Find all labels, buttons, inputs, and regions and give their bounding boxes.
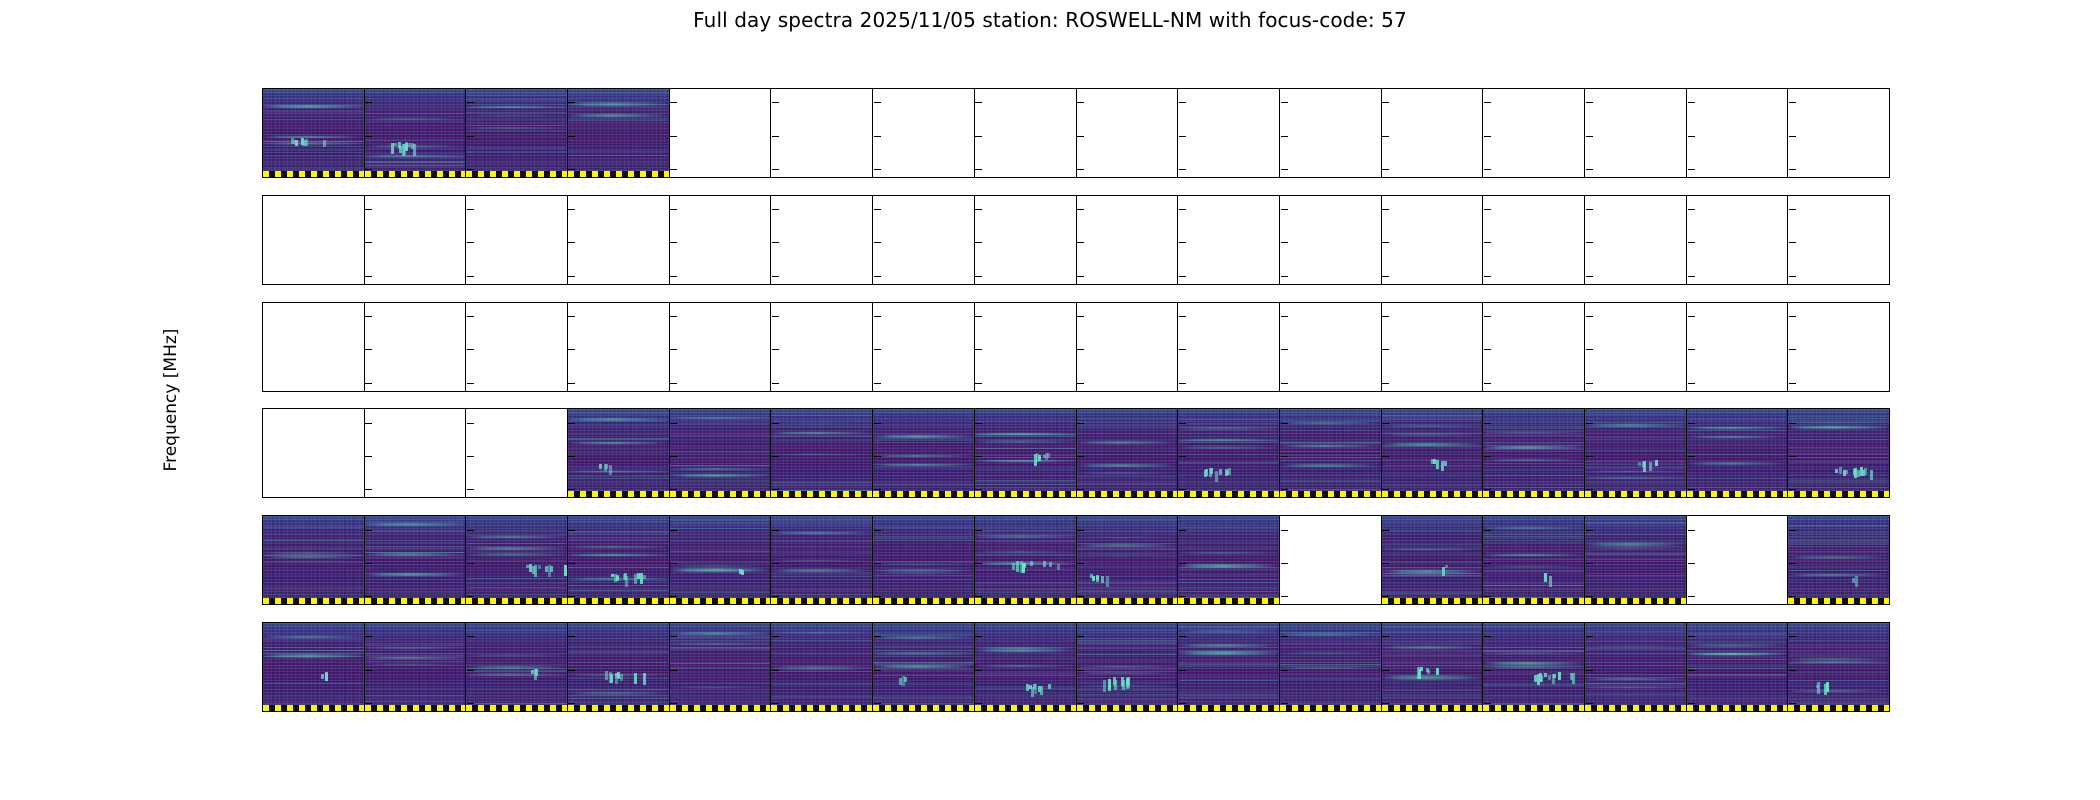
spectral-streak bbox=[1382, 684, 1483, 685]
spectral-streak bbox=[1483, 581, 1584, 582]
spectral-streak bbox=[670, 446, 771, 447]
panel-inner-tick bbox=[1382, 276, 1389, 277]
data-present-marker bbox=[1585, 491, 1686, 497]
spectral-streak bbox=[1280, 634, 1381, 635]
spectral-streak bbox=[365, 162, 466, 163]
spectral-streak bbox=[568, 430, 669, 431]
spectral-streak bbox=[975, 457, 1076, 458]
spectral-streak bbox=[1788, 672, 1889, 673]
panel-inner-tick bbox=[568, 670, 575, 671]
panel-inner-tick bbox=[1281, 670, 1288, 671]
data-present-marker bbox=[873, 598, 974, 604]
spectral-streak bbox=[873, 440, 974, 441]
narrowband-burst bbox=[1835, 469, 1838, 473]
spectral-streak bbox=[1788, 461, 1889, 462]
spectral-streak bbox=[1178, 542, 1279, 543]
panel-inner-tick bbox=[568, 596, 575, 597]
spectral-streak bbox=[466, 131, 567, 132]
panel-inner-tick bbox=[1484, 456, 1491, 457]
panel-inner-tick bbox=[467, 423, 474, 424]
spectral-streak bbox=[1077, 454, 1178, 455]
panel-inner-tick bbox=[1077, 349, 1084, 350]
spectral-streak bbox=[873, 646, 974, 647]
spectral-streak bbox=[975, 527, 1076, 528]
spectral-streak bbox=[365, 573, 466, 574]
narrowband-burst bbox=[1864, 468, 1867, 475]
spectral-streak bbox=[365, 657, 466, 658]
spectral-streak bbox=[365, 653, 466, 654]
panel-inner-tick bbox=[874, 209, 881, 210]
spectrogram-image bbox=[1687, 623, 1788, 711]
spectral-streak bbox=[365, 524, 466, 525]
spectral-streak bbox=[1077, 548, 1178, 549]
spectral-streak bbox=[1788, 680, 1889, 681]
spectral-streak bbox=[670, 683, 771, 684]
spectral-streak bbox=[1585, 634, 1686, 635]
spectral-streak bbox=[873, 663, 974, 664]
panel-inner-tick bbox=[772, 456, 779, 457]
spectrogram-panel bbox=[263, 89, 365, 177]
spectral-streak bbox=[466, 118, 567, 119]
emission-band bbox=[1483, 527, 1584, 529]
narrowband-burst bbox=[1570, 673, 1573, 680]
panel-inner-tick bbox=[1789, 209, 1796, 210]
emission-band bbox=[975, 551, 1076, 553]
spectral-streak bbox=[1178, 691, 1279, 692]
spectral-streak bbox=[1788, 420, 1889, 421]
narrowband-burst bbox=[1030, 561, 1033, 566]
panel-inner-tick bbox=[1586, 489, 1593, 490]
spectral-streak bbox=[1585, 684, 1686, 685]
spectral-streak bbox=[1585, 439, 1686, 440]
spectrogram-row-16-19ut: 30020010016-19UT bbox=[262, 515, 1890, 605]
spectral-streak bbox=[365, 665, 466, 666]
narrowband-burst bbox=[634, 673, 637, 684]
spectrogram-panel-empty bbox=[1687, 303, 1789, 391]
narrowband-burst bbox=[1215, 471, 1218, 483]
narrowband-burst bbox=[1057, 564, 1060, 570]
spectral-streak bbox=[263, 146, 364, 147]
spectral-streak bbox=[1788, 437, 1889, 438]
spectral-streak bbox=[670, 520, 771, 521]
spectral-streak bbox=[568, 107, 669, 108]
spectral-streak bbox=[1687, 659, 1788, 660]
spectral-streak bbox=[1788, 595, 1889, 596]
spectral-streak bbox=[1483, 445, 1584, 446]
spectral-streak bbox=[1077, 418, 1178, 419]
narrowband-burst bbox=[617, 674, 620, 678]
spectral-streak bbox=[873, 579, 974, 580]
spectral-streak bbox=[1178, 423, 1279, 424]
spectral-streak bbox=[263, 570, 364, 571]
spectral-streak bbox=[263, 562, 364, 563]
emission-band bbox=[1585, 543, 1686, 546]
spectrogram-panel-empty bbox=[1077, 196, 1179, 284]
spectral-streak bbox=[1483, 449, 1584, 450]
emission-band bbox=[466, 127, 567, 129]
panel-inner-tick bbox=[1179, 670, 1186, 671]
figure-title: Full day spectra 2025/11/05 station: ROS… bbox=[0, 8, 2100, 32]
spectral-streak bbox=[365, 701, 466, 702]
spectral-streak bbox=[1687, 677, 1788, 678]
panel-inner-tick bbox=[1382, 636, 1389, 637]
spectral-streak bbox=[1585, 693, 1686, 694]
spectral-streak bbox=[1178, 575, 1279, 576]
narrowband-burst bbox=[325, 672, 328, 681]
spectrogram-image bbox=[1483, 623, 1584, 711]
spectral-streak bbox=[1280, 443, 1381, 444]
spectral-streak bbox=[365, 683, 466, 684]
panel-inner-tick bbox=[365, 423, 372, 424]
spectrogram-panel-empty bbox=[263, 409, 365, 497]
spectral-streak bbox=[466, 560, 567, 561]
panel-inner-tick bbox=[1688, 423, 1695, 424]
spectral-streak bbox=[1585, 575, 1686, 576]
emission-band bbox=[568, 546, 669, 548]
spectrogram-panel-empty bbox=[1280, 196, 1382, 284]
spectral-streak bbox=[1788, 580, 1889, 581]
panel-inner-tick bbox=[1789, 563, 1796, 564]
spectral-streak bbox=[1178, 482, 1279, 483]
narrowband-burst bbox=[1106, 576, 1109, 587]
panel-inner-tick bbox=[365, 670, 372, 671]
spectral-streak bbox=[1280, 414, 1381, 415]
spectral-streak bbox=[873, 656, 974, 657]
spectrogram-panel bbox=[975, 409, 1077, 497]
spectral-streak bbox=[873, 653, 974, 654]
panel-inner-tick bbox=[1281, 563, 1288, 564]
spectral-streak bbox=[873, 703, 974, 704]
y-axis-tick bbox=[262, 670, 263, 671]
data-present-marker bbox=[1788, 705, 1889, 711]
panel-inner-tick bbox=[670, 423, 677, 424]
y-axis-tick bbox=[262, 349, 263, 350]
spectral-streak bbox=[670, 474, 771, 475]
narrowband-burst bbox=[1209, 468, 1212, 477]
panel-inner-tick bbox=[1179, 349, 1186, 350]
panel-inner-tick bbox=[1382, 670, 1389, 671]
panel-inner-tick bbox=[670, 102, 677, 103]
x-axis-tick bbox=[1586, 711, 1587, 712]
narrowband-burst bbox=[1108, 679, 1111, 690]
panel-inner-tick bbox=[1484, 169, 1491, 170]
spectral-streak bbox=[1788, 534, 1889, 535]
spectral-streak bbox=[771, 523, 872, 524]
spectral-streak bbox=[568, 555, 669, 556]
spectral-streak bbox=[1788, 544, 1889, 545]
spectral-streak bbox=[263, 542, 364, 543]
spectral-streak bbox=[771, 415, 872, 416]
emission-band bbox=[975, 440, 1076, 443]
spectral-streak bbox=[568, 590, 669, 591]
spectral-streak bbox=[670, 420, 771, 421]
spectral-streak bbox=[771, 671, 872, 672]
spectrogram-noise-texture bbox=[1585, 516, 1686, 604]
spectral-streak bbox=[1077, 553, 1178, 554]
panel-inner-tick bbox=[1586, 596, 1593, 597]
data-present-marker bbox=[1280, 491, 1381, 497]
panel-inner-tick bbox=[670, 316, 677, 317]
spectrogram-row-00-03ut: 30020010000-03UT bbox=[262, 88, 1890, 178]
panel-inner-tick bbox=[1281, 102, 1288, 103]
spectrogram-panel bbox=[1178, 409, 1280, 497]
spectral-streak bbox=[568, 537, 669, 538]
panel-inner-tick bbox=[568, 563, 575, 564]
x-axis-tick bbox=[1281, 711, 1282, 712]
panel-inner-tick bbox=[670, 209, 677, 210]
spectral-streak bbox=[1077, 476, 1178, 477]
panel-inner-tick bbox=[1077, 423, 1084, 424]
panel-inner-tick bbox=[1688, 489, 1695, 490]
data-present-marker bbox=[263, 705, 364, 711]
spectral-streak bbox=[568, 449, 669, 450]
panel-inner-tick bbox=[874, 670, 881, 671]
spectral-streak bbox=[1382, 663, 1483, 664]
spectrogram-noise-texture bbox=[1585, 623, 1686, 711]
spectral-streak bbox=[1382, 678, 1483, 679]
panel-inner-tick bbox=[772, 349, 779, 350]
spectral-streak bbox=[1788, 453, 1889, 454]
emission-band bbox=[873, 665, 974, 668]
spectral-streak bbox=[263, 555, 364, 556]
data-present-marker bbox=[1483, 598, 1584, 604]
panel-inner-tick bbox=[1586, 383, 1593, 384]
spectral-streak bbox=[670, 562, 771, 563]
spectral-streak bbox=[1788, 416, 1889, 417]
spectral-streak bbox=[1178, 429, 1279, 430]
spectral-streak bbox=[1788, 479, 1889, 480]
spectral-streak bbox=[670, 643, 771, 644]
spectral-streak bbox=[1788, 526, 1889, 527]
spectral-streak bbox=[568, 439, 669, 440]
spectral-streak bbox=[263, 527, 364, 528]
spectrogram-image bbox=[365, 623, 466, 711]
panel-inner-tick bbox=[467, 530, 474, 531]
spectrogram-image bbox=[568, 409, 669, 497]
y-axis-tick bbox=[262, 456, 263, 457]
panel-inner-tick bbox=[1789, 703, 1796, 704]
spectral-streak bbox=[263, 152, 364, 153]
data-present-marker bbox=[1788, 598, 1889, 604]
spectrogram-panel bbox=[873, 409, 975, 497]
data-present-marker bbox=[670, 598, 771, 604]
spectral-streak bbox=[263, 116, 364, 117]
data-present-marker bbox=[1077, 705, 1178, 711]
data-present-marker bbox=[466, 705, 567, 711]
spectrogram-image bbox=[263, 623, 364, 711]
spectral-streak bbox=[1280, 420, 1381, 421]
spectral-streak bbox=[466, 551, 567, 552]
panel-inner-tick bbox=[1077, 242, 1084, 243]
panel-inner-tick bbox=[874, 242, 881, 243]
y-axis-tick bbox=[262, 703, 263, 704]
spectral-streak bbox=[1077, 566, 1178, 567]
spectral-streak bbox=[975, 480, 1076, 481]
spectral-streak bbox=[1483, 484, 1584, 485]
spectral-streak bbox=[1382, 474, 1483, 475]
panel-inner-tick bbox=[1179, 242, 1186, 243]
panel-inner-tick bbox=[772, 563, 779, 564]
spectral-streak bbox=[1382, 638, 1483, 639]
panel-inner-tick bbox=[874, 423, 881, 424]
panel-inner-tick bbox=[1688, 102, 1695, 103]
spectral-streak bbox=[568, 109, 669, 110]
spectrogram-image bbox=[568, 623, 669, 711]
panel-inner-tick bbox=[1586, 316, 1593, 317]
panel-inner-tick bbox=[772, 316, 779, 317]
narrowband-burst bbox=[1436, 460, 1439, 468]
spectral-streak bbox=[1687, 699, 1788, 700]
spectral-streak bbox=[873, 684, 974, 685]
narrowband-burst bbox=[295, 140, 298, 146]
spectrogram-noise-texture bbox=[568, 409, 669, 497]
y-axis-tick bbox=[262, 316, 263, 317]
emission-band bbox=[365, 118, 466, 120]
spectral-streak bbox=[1687, 430, 1788, 431]
spectral-streak bbox=[263, 111, 364, 112]
panel-inner-tick bbox=[1688, 456, 1695, 457]
narrowband-burst bbox=[1043, 561, 1046, 567]
spectral-streak bbox=[466, 99, 567, 100]
panel-inner-tick bbox=[874, 563, 881, 564]
panel-inner-tick bbox=[1688, 349, 1695, 350]
narrowband-burst bbox=[1121, 677, 1124, 685]
spectral-streak bbox=[466, 107, 567, 108]
narrowband-burst bbox=[1553, 674, 1556, 678]
spectral-streak bbox=[1382, 419, 1483, 420]
y-axis-tick bbox=[262, 383, 263, 384]
spectral-streak bbox=[1788, 566, 1889, 567]
spectral-streak bbox=[1382, 583, 1483, 584]
panel-inner-tick bbox=[1077, 209, 1084, 210]
spectral-streak bbox=[873, 650, 974, 651]
spectrogram-panel-empty bbox=[1483, 303, 1585, 391]
spectral-streak bbox=[670, 648, 771, 649]
spectrogram-image bbox=[1077, 516, 1178, 604]
narrowband-burst bbox=[394, 143, 397, 146]
spectrogram-image bbox=[466, 623, 567, 711]
emission-band bbox=[670, 568, 771, 570]
spectral-streak bbox=[1585, 652, 1686, 653]
panel-inner-tick bbox=[1789, 316, 1796, 317]
spectral-streak bbox=[1382, 666, 1483, 667]
panel-inner-tick bbox=[1077, 563, 1084, 564]
panel-inner-tick bbox=[365, 563, 372, 564]
data-present-marker bbox=[1585, 598, 1686, 604]
spectral-streak bbox=[365, 688, 466, 689]
spectral-streak bbox=[1178, 567, 1279, 568]
x-axis-tick bbox=[1484, 711, 1485, 712]
emission-band bbox=[568, 442, 669, 444]
panel-inner-tick bbox=[1688, 316, 1695, 317]
spectral-streak bbox=[1280, 480, 1381, 481]
spectrogram-panel-empty bbox=[1178, 89, 1280, 177]
panel-inner-tick bbox=[1077, 636, 1084, 637]
spectrogram-panel bbox=[1483, 516, 1585, 604]
spectral-streak bbox=[263, 650, 364, 651]
spectrogram-panel-empty bbox=[1687, 89, 1789, 177]
spectrogram-image bbox=[771, 409, 872, 497]
narrowband-burst bbox=[1047, 453, 1050, 458]
narrowband-burst bbox=[564, 565, 567, 577]
spectral-streak bbox=[670, 417, 771, 418]
spectral-streak bbox=[771, 665, 872, 666]
y-axis-tick bbox=[262, 209, 263, 210]
panel-inner-tick bbox=[1789, 596, 1796, 597]
spectral-streak bbox=[1585, 467, 1686, 468]
data-present-marker bbox=[1178, 491, 1279, 497]
spectral-streak bbox=[1788, 632, 1889, 633]
panel-inner-tick bbox=[772, 670, 779, 671]
spectral-streak bbox=[1382, 647, 1483, 648]
narrowband-burst bbox=[1826, 682, 1829, 692]
emission-band bbox=[1687, 462, 1788, 464]
spectral-streak bbox=[873, 628, 974, 629]
spectral-streak bbox=[466, 587, 567, 588]
panel-inner-tick bbox=[1281, 316, 1288, 317]
panel-inner-tick bbox=[1077, 670, 1084, 671]
spectrogram-panel bbox=[365, 89, 467, 177]
spectral-streak bbox=[263, 141, 364, 142]
panel-inner-tick bbox=[1789, 636, 1796, 637]
spectral-streak bbox=[365, 557, 466, 558]
emission-band bbox=[1077, 537, 1178, 538]
data-present-marker bbox=[771, 705, 872, 711]
spectrogram-image bbox=[466, 89, 567, 177]
spectral-streak bbox=[466, 671, 567, 672]
panel-inner-tick bbox=[1281, 209, 1288, 210]
spectral-streak bbox=[1178, 436, 1279, 437]
spectral-streak bbox=[1178, 694, 1279, 695]
panel-inner-tick bbox=[1586, 136, 1593, 137]
spectral-streak bbox=[1382, 544, 1483, 545]
data-present-marker bbox=[670, 491, 771, 497]
panel-inner-tick bbox=[874, 136, 881, 137]
spectral-streak bbox=[365, 548, 466, 549]
panel-inner-tick bbox=[1789, 349, 1796, 350]
panel-strip bbox=[263, 196, 1889, 284]
panel-inner-tick bbox=[1484, 636, 1491, 637]
spectral-streak bbox=[975, 467, 1076, 468]
spectral-streak bbox=[1788, 542, 1889, 543]
emission-band bbox=[1077, 672, 1178, 674]
spectral-streak bbox=[1178, 679, 1279, 680]
panel-inner-tick bbox=[365, 596, 372, 597]
panel-inner-tick bbox=[1789, 670, 1796, 671]
spectrogram-panel-empty bbox=[975, 303, 1077, 391]
spectral-streak bbox=[1585, 674, 1686, 675]
panel-inner-tick bbox=[772, 102, 779, 103]
narrowband-burst bbox=[605, 671, 608, 679]
spectral-streak bbox=[365, 140, 466, 141]
y-axis-tick bbox=[262, 563, 263, 564]
spectral-streak bbox=[1178, 454, 1279, 455]
spectral-streak bbox=[1788, 560, 1889, 561]
spectrogram-image bbox=[1178, 516, 1279, 604]
spectrogram-panel bbox=[1585, 516, 1687, 604]
spectral-streak bbox=[1077, 638, 1178, 639]
panel-inner-tick bbox=[568, 383, 575, 384]
spectrogram-panel-empty bbox=[771, 196, 873, 284]
narrowband-burst bbox=[1643, 461, 1646, 472]
panel-inner-tick bbox=[1179, 169, 1186, 170]
spectrogram-panel-empty bbox=[568, 303, 670, 391]
panel-inner-tick bbox=[467, 169, 474, 170]
spectral-streak bbox=[263, 594, 364, 595]
spectral-streak bbox=[670, 458, 771, 459]
panel-inner-tick bbox=[1586, 209, 1593, 210]
spectral-streak bbox=[1483, 451, 1584, 452]
